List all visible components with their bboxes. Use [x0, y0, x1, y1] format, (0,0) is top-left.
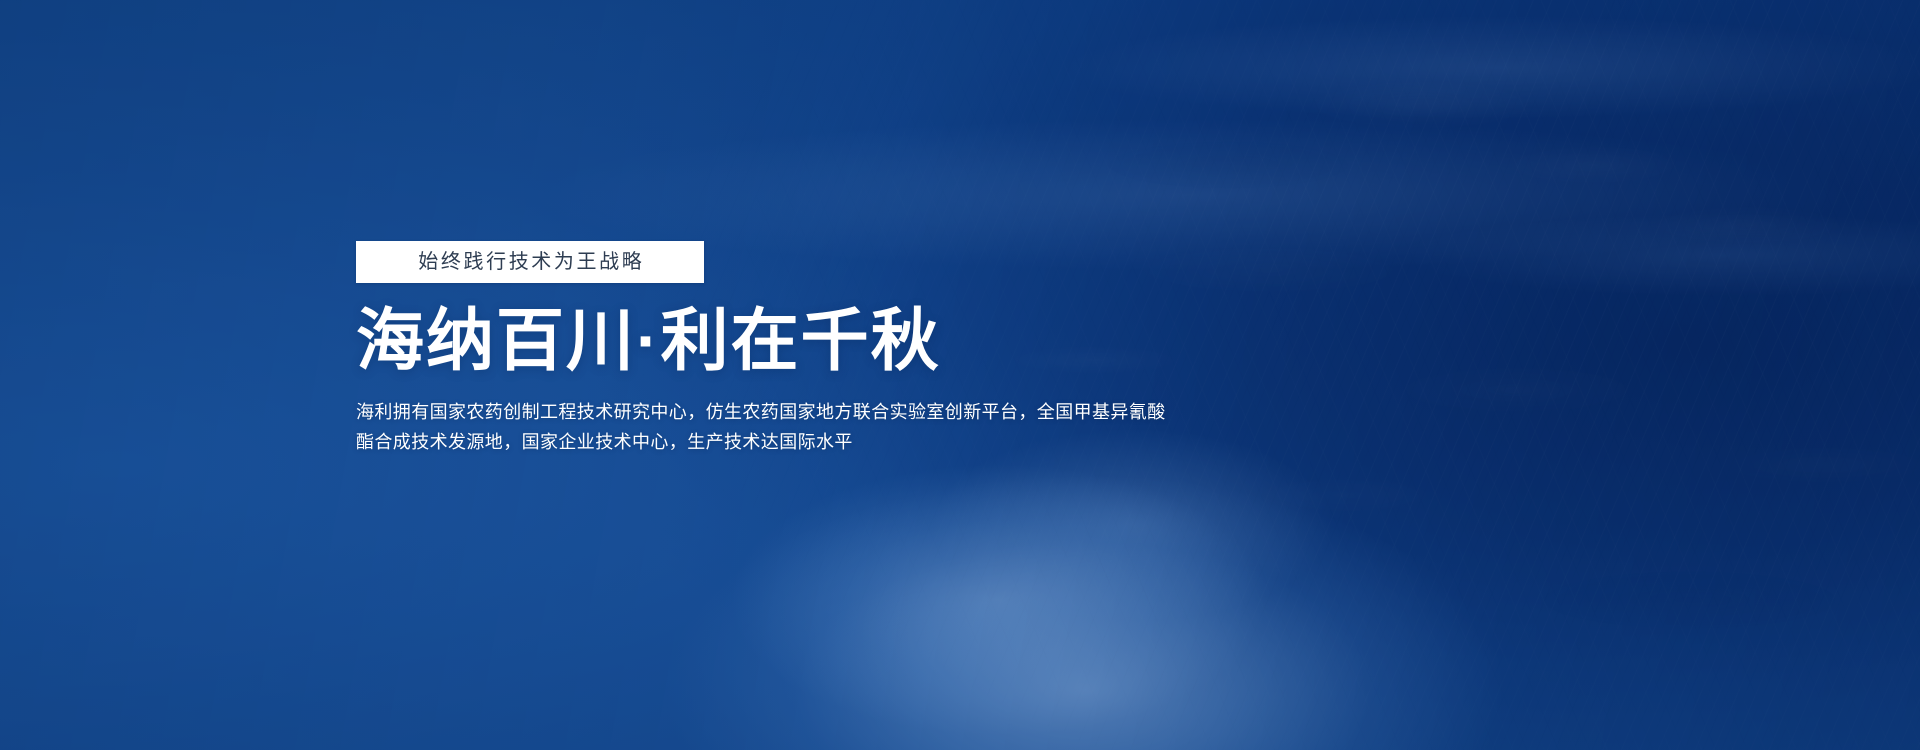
hero-subtitle: 海利拥有国家农药创制工程技术研究中心，仿生农药国家地方联合实验室创新平台，全国甲…: [356, 375, 1162, 457]
hero-banner: 始终践行技术为王战略 海纳百川·利在千秋 海利拥有国家农药创制工程技术研究中心，…: [0, 0, 1920, 750]
hero-headline: 海纳百川·利在千秋: [356, 283, 1256, 375]
hero-content: 始终践行技术为王战略 海纳百川·利在千秋 海利拥有国家农药创制工程技术研究中心，…: [356, 241, 1256, 457]
hero-subtitle-line-1: 海利拥有国家农药创制工程技术研究中心，仿生农药国家地方联合实验室创新平台，全国甲…: [356, 397, 1162, 427]
hero-subtitle-line-2: 酯合成技术发源地，国家企业技术中心，生产技术达国际水平: [356, 427, 1162, 457]
strategy-badge: 始终践行技术为王战略: [356, 241, 704, 283]
